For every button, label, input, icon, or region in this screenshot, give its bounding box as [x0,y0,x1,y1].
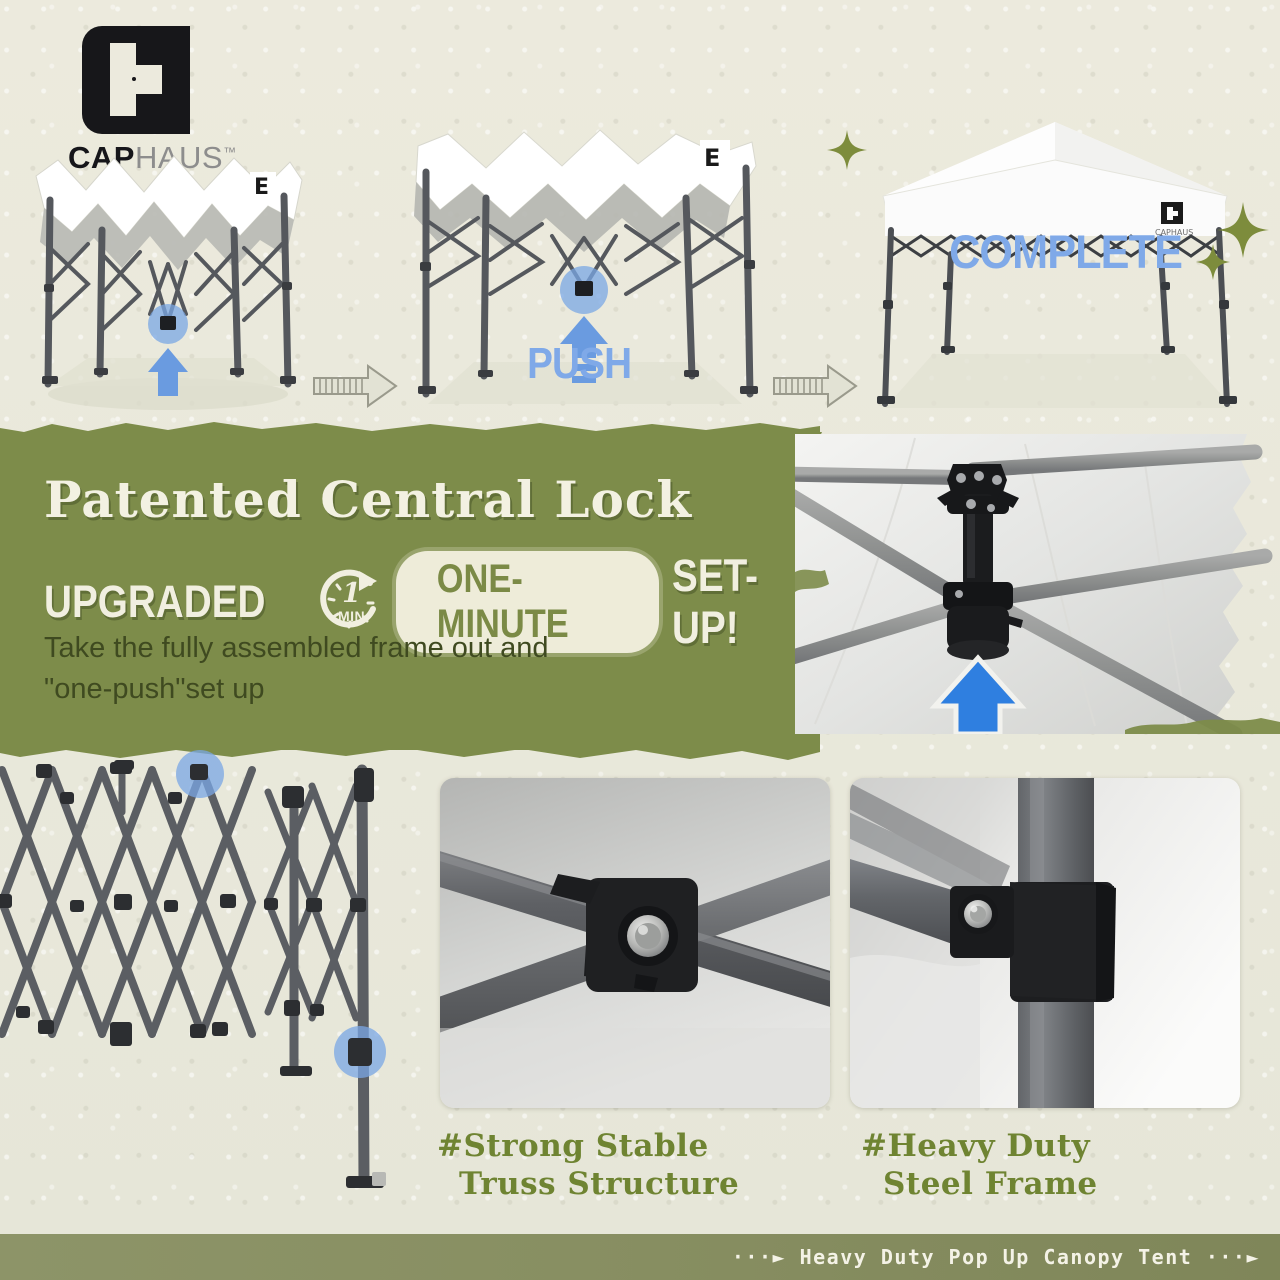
feature-2-line-2: Steel Frame [861,1166,1098,1204]
central-lock-banner: Patented Central Lock UPGRADED 1 MIN ONE [0,432,820,750]
feature-caption-truss: #Strong Stable Truss Structure [437,1128,739,1204]
central-lock-closeup-photo [795,434,1280,734]
banner-headline: Patented Central Lock [44,470,692,529]
feature-caption-steel: #Heavy Duty Steel Frame [861,1128,1098,1204]
banner-torn-top-edge [0,420,820,438]
scissor-truss-frame-photo [0,752,434,1222]
complete-label: COMPLETE [949,228,1182,275]
body-line-1: Take the fully assembled frame out and [44,628,664,669]
upgraded-label: UPGRADED [44,576,265,628]
step-collapsed: E [28,144,308,412]
right-arrow-icon [312,364,398,408]
hash-symbol: # [437,1128,463,1164]
footer-tagline: ···► Heavy Duty Pop Up Canopy Tent ···► [732,1245,1260,1269]
svg-text:E: E [704,144,720,172]
right-arrow-icon [772,364,858,408]
truss-joint-closeup-photo [440,778,830,1108]
setup-steps-row: E [0,96,1280,426]
setup-label: SET-UP! [672,550,799,654]
clock-unit: MIN [315,608,389,624]
banner-body-copy: Take the fully assembled frame out and "… [44,628,664,710]
step-connector-2 [772,364,858,408]
steel-frame-joint-closeup-photo [850,778,1240,1108]
push-label: PUSH [527,342,631,386]
feature-2-line-1: Heavy Duty [887,1128,1090,1164]
svg-text:E: E [254,175,269,200]
feature-1-line-1: Strong Stable [463,1128,708,1164]
footer-bar: ···► Heavy Duty Pop Up Canopy Tent ···► [0,1234,1280,1280]
infographic-page: CAPHAUS™ E [0,0,1280,1280]
step-push: E [400,126,768,416]
collapsed-tent-illustration: E [28,144,308,412]
feature-1-line-2: Truss Structure [437,1166,739,1204]
step-complete: CAPHAUS [855,104,1255,422]
clock-number: 1 [315,578,389,609]
hash-symbol: # [861,1128,887,1164]
body-line-2: "one-push"set up [44,669,664,710]
step-connector-1 [312,364,398,408]
